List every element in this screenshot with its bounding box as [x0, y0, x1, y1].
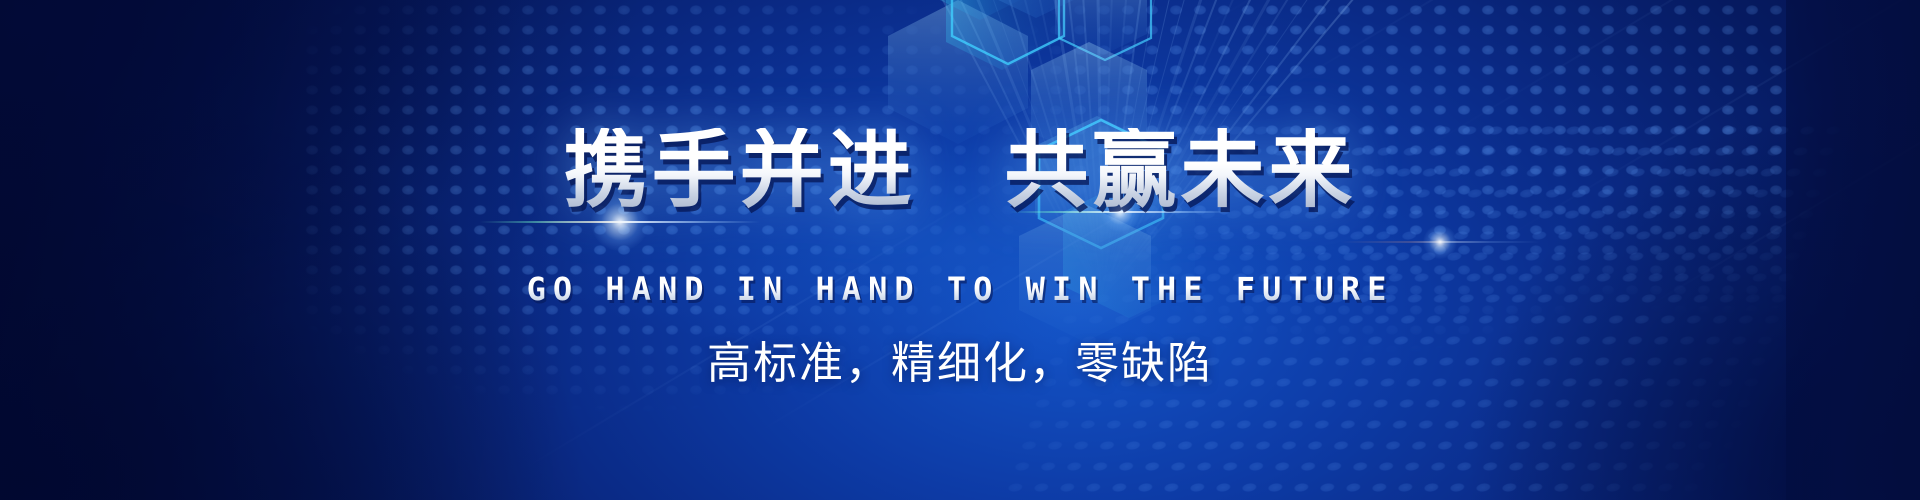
- banner-title: 携手并进 共赢未来: [0, 128, 1920, 212]
- banner-subtitle-english: GO HAND IN HAND TO WIN THE FUTURE: [0, 272, 1920, 306]
- banner-tagline: 高标准，精细化，零缺陷: [0, 340, 1920, 388]
- promo-banner: 携手并进 共赢未来 GO HAND IN HAND TO WIN THE FUT…: [0, 0, 1920, 500]
- banner-title-main: 携手并进: [564, 123, 916, 217]
- banner-title-secondary: 共赢未来: [1004, 123, 1356, 217]
- banner-content: 携手并进 共赢未来 GO HAND IN HAND TO WIN THE FUT…: [0, 0, 1920, 500]
